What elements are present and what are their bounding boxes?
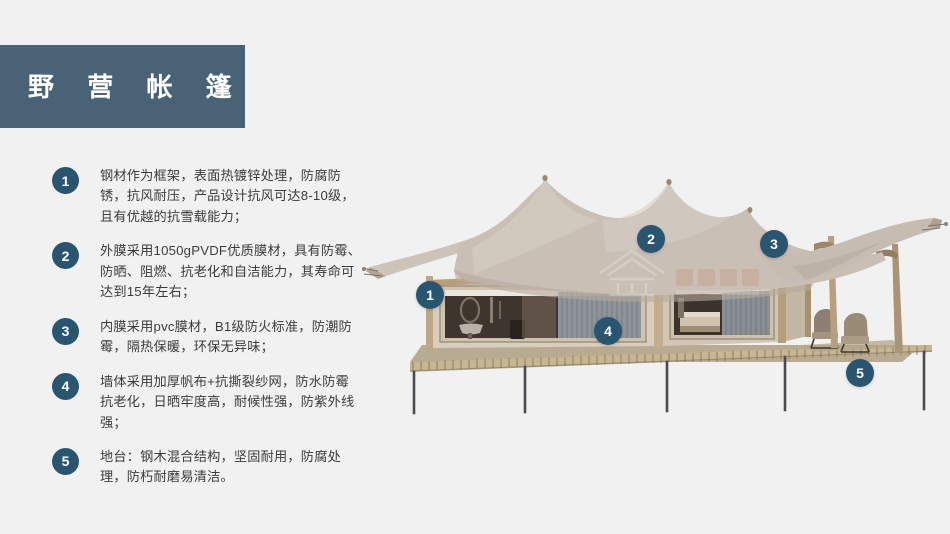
tent-illustration <box>362 140 950 470</box>
image-marker-2[interactable]: 2 <box>637 225 665 253</box>
roof-peak-tip <box>748 207 753 213</box>
image-marker-3[interactable]: 3 <box>760 230 788 258</box>
roof-peak-tip <box>666 179 671 185</box>
image-marker-4[interactable]: 4 <box>594 317 622 345</box>
anchor-fitting <box>362 267 366 271</box>
tent-drawing <box>362 140 950 470</box>
image-marker-1[interactable]: 1 <box>416 281 444 309</box>
feature-description: 地台：钢木混合结构，坚固耐用，防腐处理，防朽耐磨易清洁。 <box>100 447 362 488</box>
anchor-fitting <box>944 222 948 226</box>
roof-peak-tip <box>542 175 547 181</box>
feature-number-badge: 1 <box>52 167 79 194</box>
image-marker-5[interactable]: 5 <box>846 359 874 387</box>
canopy-pole-right <box>892 244 903 353</box>
page-title: 野 营 帐 篷 <box>28 74 245 100</box>
feature-number-badge: 5 <box>52 448 79 475</box>
list-item: 1 钢材作为框架，表面热镀锌处理，防腐防锈，抗风耐压，产品设计抗风可达8-10级… <box>52 166 362 227</box>
feature-description: 外膜采用1050gPVDF优质膜材，具有防霉、防晒、阻燃、抗老化和自洁能力，其寿… <box>100 241 362 302</box>
list-item: 4 墙体采用加厚帆布+抗撕裂纱网，防水防霉抗老化，日晒牢度高，耐候性强，防紫外线… <box>52 372 362 433</box>
feature-number-badge: 4 <box>52 373 79 400</box>
feature-description: 内膜采用pvc膜材，B1级防火标准，防潮防霉，隔热保暖，环保无异味； <box>100 317 362 358</box>
feature-description: 钢材作为框架，表面热镀锌处理，防腐防锈，抗风耐压，产品设计抗风可达8-10级，且… <box>100 166 362 227</box>
bathroom-basin <box>459 324 483 335</box>
feature-number-badge: 3 <box>52 318 79 345</box>
page-title-block: 野 营 帐 篷 <box>0 45 245 128</box>
feature-number-badge: 2 <box>52 242 79 269</box>
feature-list: 1 钢材作为框架，表面热镀锌处理，防腐防锈，抗风耐压，产品设计抗风可达8-10级… <box>52 166 362 502</box>
list-item: 3 内膜采用pvc膜材，B1级防火标准，防潮防霉，隔热保暖，环保无异味； <box>52 317 362 358</box>
list-item: 2 外膜采用1050gPVDF优质膜材，具有防霉、防晒、阻燃、抗老化和自洁能力，… <box>52 241 362 302</box>
list-item: 5 地台：钢木混合结构，坚固耐用，防腐处理，防朽耐磨易清洁。 <box>52 447 362 488</box>
feature-description: 墙体采用加厚帆布+抗撕裂纱网，防水防霉抗老化，日晒牢度高，耐候性强，防紫外线强； <box>100 372 362 433</box>
